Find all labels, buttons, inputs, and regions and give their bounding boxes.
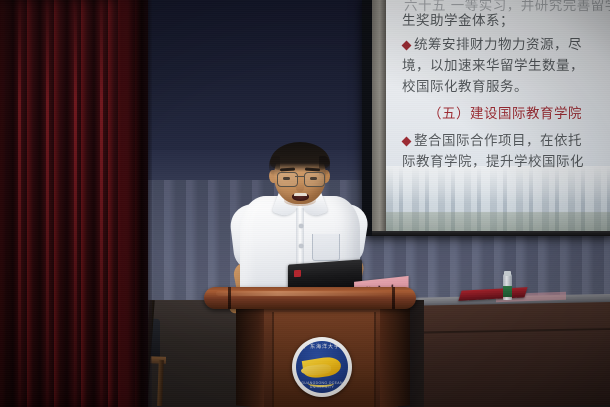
speaker-eyeglasses-lens-right	[304, 172, 325, 187]
speaker-eyeglasses-lens-left	[277, 172, 298, 187]
curtain-fold-highlight	[46, 0, 49, 407]
lectern-rail-band	[228, 287, 231, 309]
speaker-shirt-button	[299, 244, 303, 248]
university-emblem-name-cn: 广东海洋大学	[296, 343, 348, 350]
university-emblem-name-en: GUANGDONG OCEAN UNIVERSITY	[296, 381, 348, 389]
water-bottle-cap	[504, 271, 511, 276]
projection-screen-bottom-edge	[372, 231, 610, 236]
speaker-teeth	[294, 193, 307, 196]
curtain-fold-highlight	[100, 0, 103, 407]
slide-bullet-icon	[402, 41, 412, 51]
conference-table-front	[398, 302, 610, 407]
curtain-edge-shadow	[118, 0, 152, 407]
lectern-rail-band	[392, 287, 395, 309]
slide-bullet-icon	[402, 137, 412, 147]
slide-text-line: 校国际化教育服务。	[402, 80, 528, 95]
slide-text-line: 际教育学院，提升学校国际化	[402, 155, 584, 170]
slide-text-line: 统筹安排财力物力资源，尽	[414, 38, 582, 53]
laptop-logo-icon	[294, 270, 301, 277]
speaker-nose	[296, 182, 304, 192]
lectern-side-right	[376, 298, 410, 407]
photo-scene: 六十五 一等实习，并研究完善留学生奖助学金体系；统筹安排财力物力资源，尽境，以加…	[0, 0, 610, 407]
slide-text-line: （五）建设国际教育学院	[428, 107, 582, 122]
slide-text-line: 整合国际合作项目，在依托	[414, 134, 582, 149]
speaker-shirt-button	[299, 224, 303, 228]
slide-text-line: 生奖助学金体系；	[402, 14, 514, 29]
lectern-rail-highlight	[216, 291, 392, 296]
speaker-eyeglasses-bridge	[295, 176, 305, 177]
water-bottle-label	[503, 286, 512, 297]
speaker-shirt-pocket	[312, 234, 340, 261]
slide-text-line: 六十五 一等实习，并研究完善留学	[404, 0, 610, 14]
slide-background-photo	[386, 166, 610, 234]
curtain-fold-highlight	[74, 0, 77, 407]
slide-text-line: 境，以加速来华留学生数量，	[402, 59, 584, 74]
curtain-fold-highlight	[18, 0, 21, 407]
slide-text-layer: 六十五 一等实习，并研究完善留学生奖助学金体系；统筹安排财力物力资源，尽境，以加…	[386, 0, 610, 168]
